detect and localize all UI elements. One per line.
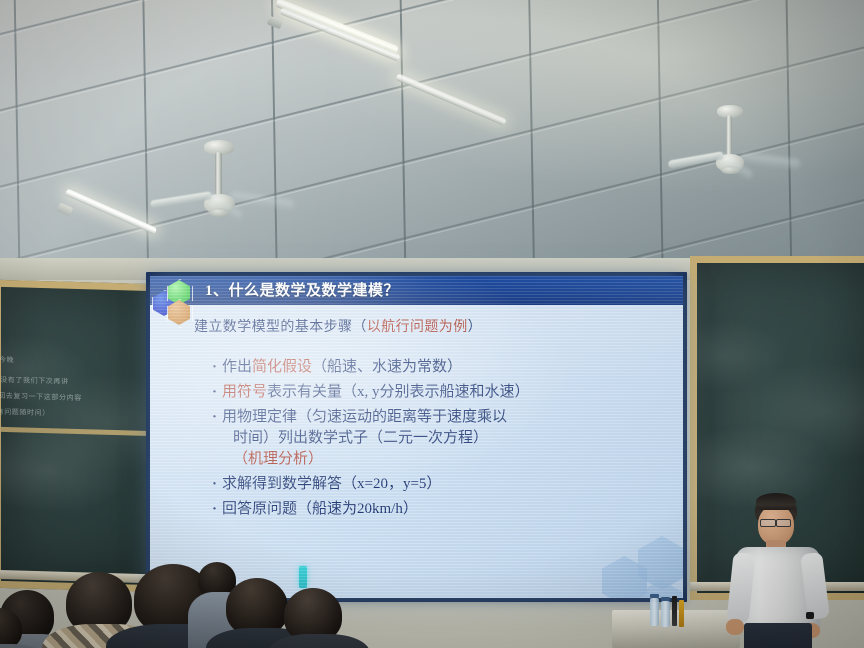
- bullet-3-cont-text: 时间）列出数学式子（二元一次方程）: [233, 430, 488, 446]
- bullet-1-seg-2: 简化假设: [252, 359, 312, 375]
- water-bottle-icon: [650, 598, 659, 626]
- glasses-icon: [760, 519, 776, 527]
- ceiling-light-glow: [0, 0, 864, 300]
- bullet-2-seg-1: 用: [222, 384, 237, 400]
- chalk-residue: [1, 287, 153, 585]
- bottle-cap-icon: [650, 594, 659, 598]
- slide-subtitle: 建立数学模型的基本步骤（以航行问题为例）: [194, 316, 482, 336]
- bullet-2-seg-2: 符号: [237, 384, 267, 400]
- slide-bullet-3-cont: 时间）列出数学式子（二元一次方程）: [212, 431, 652, 446]
- wristwatch-icon: [806, 612, 814, 619]
- presentation-slide: 1、什么是数学及数学建模？ 建立数学模型的基本步骤（以航行问题为例） ·作出简化…: [150, 276, 683, 598]
- bullet-1-seg-1: 作出: [222, 359, 252, 375]
- subtitle-paren-close: ）: [468, 320, 482, 335]
- water-bottle-icon: [661, 601, 670, 627]
- bullet-marker-icon: ·: [212, 385, 222, 400]
- bullet-4-seg-1: 求解得到数学解答（x=20，y=5）: [222, 476, 441, 492]
- marker-pen-icon: [672, 596, 677, 626]
- lecturer-left-hand: [726, 619, 744, 635]
- slide-bullet-1: ·作出简化假设（船速、水速为常数）: [212, 360, 652, 375]
- fan-rod-icon: [726, 115, 732, 159]
- subtitle-paren-open: （: [352, 320, 366, 335]
- projection-screen[interactable]: 1、什么是数学及数学建模？ 建立数学模型的基本步骤（以航行问题为例） ·作出简化…: [150, 276, 683, 598]
- slide-cursor-marker[interactable]: [299, 566, 307, 588]
- glasses-icon: [776, 519, 791, 527]
- bullet-marker-icon: ·: [212, 502, 222, 517]
- slide-bullet-list: ·作出简化假设（船速、水速为常数） ·用符号表示有关量（x, y分别表示船速和水…: [212, 360, 652, 527]
- marker-pen-icon: [679, 600, 684, 627]
- chalk-text: 今晚: [0, 355, 14, 365]
- subtitle-main: 建立数学模型的基本步骤: [194, 320, 352, 335]
- slide-bullet-3: ·用物理定律（匀速运动的距离等于速度乘以: [212, 410, 652, 425]
- slide-bullet-5: ·回答原问题（船速为20km/h）: [212, 502, 652, 517]
- slide-bullet-2: ·用符号表示有关量（x, y分别表示船速和水速）: [212, 385, 652, 400]
- bottle-cap-icon: [661, 597, 670, 601]
- classroom-photo: 今晚 时间没有了我们下次再讲 大家回去复习一下这部分内容 （有问题随时问） 1、…: [0, 0, 864, 648]
- chalk-text: 大家回去复习一下这部分内容: [0, 390, 82, 403]
- slide-bullet-mechanism: （机理分析）: [212, 452, 652, 467]
- bullet-3-seg-1: 用物理定律（匀速运动的距离等于速度乘以: [222, 409, 507, 425]
- subtitle-highlight: 以航行问题为例: [367, 320, 468, 335]
- bullet-marker-icon: ·: [212, 360, 222, 375]
- lecturer-hair-top: [756, 493, 796, 510]
- lecturer-trousers: [744, 623, 812, 648]
- bullet-mechanism-text: （机理分析）: [233, 451, 323, 467]
- ceiling: [0, 0, 864, 300]
- bullet-1-seg-3: （船速、水速为常数）: [312, 359, 462, 375]
- slide-title: 1、什么是数学及数学建模？: [205, 279, 399, 300]
- bullet-5-seg-1: 回答原问题（船速为20km/h）: [222, 501, 418, 517]
- chalk-text: 时间没有了我们下次再讲: [0, 374, 69, 386]
- bullet-marker-icon: ·: [212, 410, 222, 425]
- slide-bullet-4: ·求解得到数学解答（x=20，y=5）: [212, 477, 652, 492]
- fan-rod-icon: [215, 152, 222, 200]
- bullet-2-seg-3: 表示有关量（x, y分别表示船速和水速）: [267, 384, 530, 400]
- chalk-text: （有问题随时问）: [0, 407, 50, 419]
- left-blackboard: 今晚 时间没有了我们下次再讲 大家回去复习一下这部分内容 （有问题随时问）: [0, 280, 160, 593]
- bullet-marker-icon: ·: [212, 477, 222, 492]
